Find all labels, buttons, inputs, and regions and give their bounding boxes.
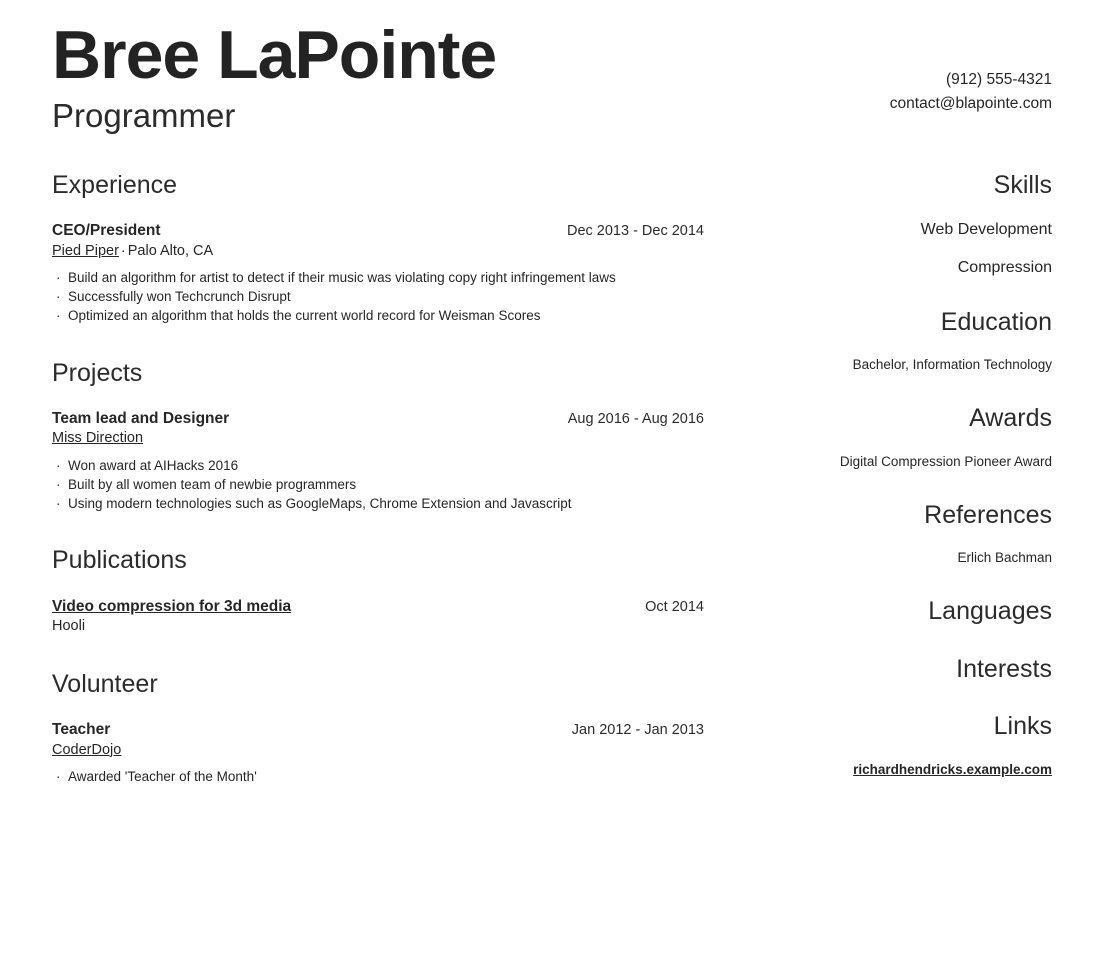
entry-date: Dec 2013 - Dec 2014: [567, 223, 704, 239]
section-heading-education: Education: [752, 309, 1052, 337]
entry-location: Palo Alto, CA: [128, 243, 213, 259]
entry-header: Team lead and Designer Aug 2016 - Aug 20…: [52, 409, 704, 428]
resume-body: Experience CEO/President Dec 2013 - Dec …: [52, 172, 1052, 821]
section-experience: Experience CEO/President Dec 2013 - Dec …: [52, 172, 704, 326]
entry-date: Aug 2016 - Aug 2016: [568, 411, 704, 427]
separator-dot: ·: [119, 243, 128, 259]
project-entry: Team lead and Designer Aug 2016 - Aug 20…: [52, 409, 704, 513]
contact-phone[interactable]: (912) 555-4321: [890, 68, 1052, 92]
entry-date: Jan 2012 - Jan 2013: [572, 722, 704, 738]
entry-subtitle: Pied Piper·Palo Alto, CA: [52, 242, 704, 262]
section-heading-projects: Projects: [52, 360, 704, 388]
publication-publisher: Hooli: [52, 617, 704, 637]
section-volunteer: Volunteer Teacher Jan 2012 - Jan 2013 Co…: [52, 671, 704, 787]
volunteer-entry: Teacher Jan 2012 - Jan 2013 CoderDojo Aw…: [52, 720, 704, 786]
side-column: Skills Web Development Compression Educa…: [752, 172, 1052, 821]
entry-date: Oct 2014: [645, 599, 704, 615]
section-skills: Skills Web Development Compression: [752, 172, 1052, 279]
skill-item: Compression: [752, 257, 1052, 279]
highlight-item: Built by all women team of newbie progra…: [52, 475, 704, 494]
section-interests: Interests: [752, 656, 1052, 684]
entry-header: Teacher Jan 2012 - Jan 2013: [52, 720, 704, 739]
award-item: Digital Compression Pioneer Award: [752, 453, 1052, 472]
candidate-title: Programmer: [52, 96, 496, 136]
highlight-item: Build an algorithm for artist to detect …: [52, 268, 704, 287]
highlight-item: Optimized an algorithm that holds the cu…: [52, 306, 704, 325]
section-heading-publications: Publications: [52, 547, 704, 575]
organization-link[interactable]: CoderDojo: [52, 742, 121, 758]
skill-item: Web Development: [752, 219, 1052, 241]
highlight-item: Using modern technologies such as Google…: [52, 494, 704, 513]
entry-subtitle: CoderDojo: [52, 741, 704, 761]
section-heading-interests: Interests: [752, 656, 1052, 684]
section-heading-volunteer: Volunteer: [52, 671, 704, 699]
section-projects: Projects Team lead and Designer Aug 2016…: [52, 360, 704, 514]
entry-subtitle: Miss Direction: [52, 429, 704, 449]
section-languages: Languages: [752, 598, 1052, 626]
main-column: Experience CEO/President Dec 2013 - Dec …: [52, 172, 704, 821]
highlight-item: Awarded 'Teacher of the Month': [52, 767, 704, 786]
resume-page: Bree LaPointe Programmer (912) 555-4321 …: [0, 0, 1104, 963]
resume-header: Bree LaPointe Programmer (912) 555-4321 …: [52, 18, 1052, 136]
entry-header: CEO/President Dec 2013 - Dec 2014: [52, 221, 704, 240]
identity-block: Bree LaPointe Programmer: [52, 18, 496, 136]
section-heading-languages: Languages: [752, 598, 1052, 626]
highlight-item: Successfully won Techcrunch Disrupt: [52, 287, 704, 306]
organization-link[interactable]: Pied Piper: [52, 243, 119, 259]
publication-title-link[interactable]: Video compression for 3d media: [52, 597, 291, 616]
entry-title: CEO/President: [52, 221, 161, 240]
highlight-list: Awarded 'Teacher of the Month': [52, 767, 704, 786]
reference-item: Erlich Bachman: [752, 549, 1052, 568]
candidate-name: Bree LaPointe: [52, 20, 496, 90]
section-heading-skills: Skills: [752, 172, 1052, 200]
section-heading-experience: Experience: [52, 172, 704, 200]
highlight-list: Won award at AIHacks 2016 Built by all w…: [52, 456, 704, 513]
section-heading-awards: Awards: [752, 405, 1052, 433]
organization-link[interactable]: Miss Direction: [52, 430, 143, 446]
highlight-list: Build an algorithm for artist to detect …: [52, 268, 704, 325]
publication-entry: Video compression for 3d media Oct 2014 …: [52, 597, 704, 637]
entry-title: Teacher: [52, 720, 110, 739]
section-publications: Publications Video compression for 3d me…: [52, 547, 704, 636]
section-references: References Erlich Bachman: [752, 502, 1052, 568]
experience-entry: CEO/President Dec 2013 - Dec 2014 Pied P…: [52, 221, 704, 325]
education-item: Bachelor, Information Technology: [752, 356, 1052, 375]
section-education: Education Bachelor, Information Technolo…: [752, 309, 1052, 375]
contact-email[interactable]: contact@blapointe.com: [890, 92, 1052, 116]
entry-header: Video compression for 3d media Oct 2014: [52, 597, 704, 616]
website-link[interactable]: richardhendricks.example.com: [752, 761, 1052, 780]
section-links: Links richardhendricks.example.com: [752, 713, 1052, 779]
section-heading-links: Links: [752, 713, 1052, 741]
contact-block: (912) 555-4321 contact@blapointe.com: [890, 18, 1052, 116]
section-awards: Awards Digital Compression Pioneer Award: [752, 405, 1052, 471]
highlight-item: Won award at AIHacks 2016: [52, 456, 704, 475]
section-heading-references: References: [752, 502, 1052, 530]
entry-title: Team lead and Designer: [52, 409, 229, 428]
